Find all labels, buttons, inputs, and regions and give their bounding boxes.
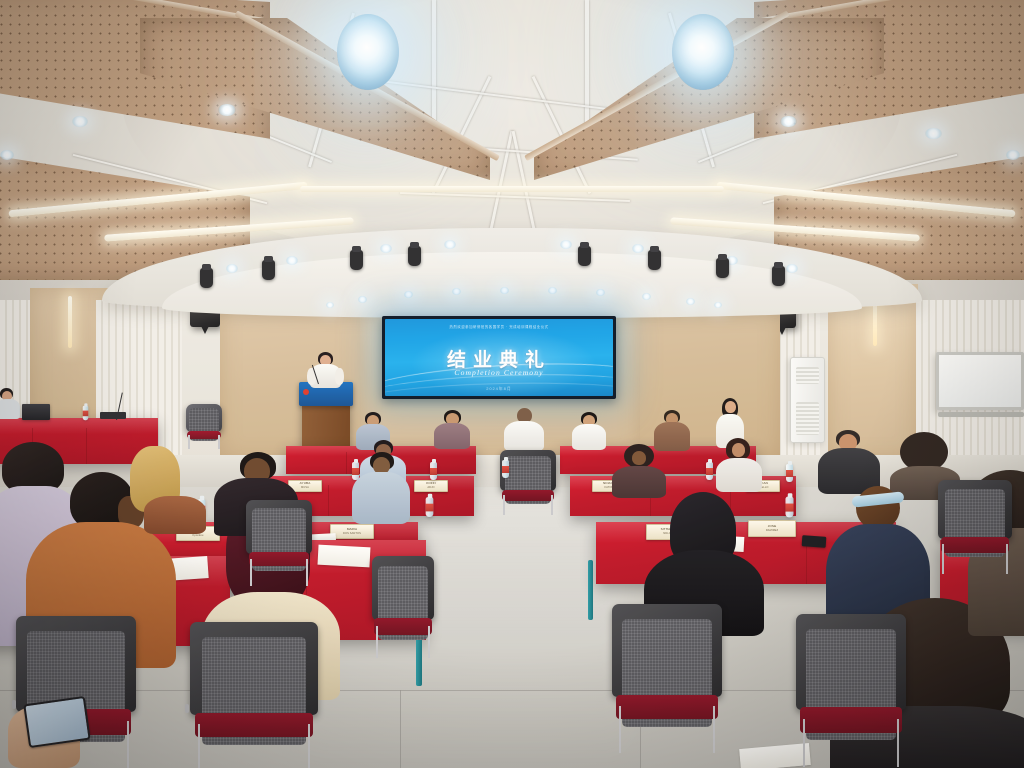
truss-downlight bbox=[226, 264, 238, 273]
attendee-head bbox=[725, 401, 736, 413]
recessed-downlight bbox=[218, 104, 236, 116]
podium-speaker bbox=[305, 352, 345, 390]
attendee-torso bbox=[434, 423, 470, 449]
truss-downlight bbox=[286, 256, 298, 265]
soffit-downlight bbox=[326, 302, 334, 308]
ac-vent-grill bbox=[796, 367, 820, 384]
stage-spotlight bbox=[716, 258, 729, 278]
stage-spotlight bbox=[648, 250, 661, 270]
recessed-downlight bbox=[1006, 150, 1020, 160]
placard-name-line2: RAMIREZ bbox=[766, 529, 778, 532]
chair-row-3-right[interactable] bbox=[796, 614, 906, 764]
soffit-downlight bbox=[404, 291, 413, 298]
smartphone-foreground[interactable] bbox=[23, 696, 91, 748]
floor-tile-seam bbox=[400, 690, 401, 768]
water-bottle bbox=[426, 497, 434, 517]
chair-armrest bbox=[12, 700, 16, 709]
dome-pendant-light bbox=[337, 14, 399, 90]
recessed-downlight bbox=[780, 116, 797, 127]
stage-spotlight bbox=[350, 250, 363, 270]
whiteboard-tray bbox=[938, 412, 1024, 417]
table-equipment bbox=[100, 412, 126, 419]
empty-chair[interactable] bbox=[186, 404, 222, 448]
attendee-head bbox=[632, 451, 646, 465]
soffit-downlight bbox=[686, 298, 695, 305]
led-display-screen: 热烈欢迎参加研修班的各国学员 · 完成培训课程结业仪式 结业典礼 Complet… bbox=[382, 316, 616, 399]
screen-date-text: 2024年8月 bbox=[385, 386, 613, 392]
ac-vent-grill bbox=[796, 402, 820, 436]
stage-spotlight bbox=[262, 260, 275, 280]
speaker-arm bbox=[335, 368, 344, 385]
attendee-torso bbox=[572, 424, 606, 450]
screen-banner-text: 热烈欢迎参加研修班的各国学员 · 完成培训课程结业仪式 bbox=[385, 324, 613, 329]
placard-name-line2: DOS SANTOS bbox=[343, 532, 361, 535]
technician-torso bbox=[0, 399, 20, 419]
soffit-downlight bbox=[500, 287, 509, 294]
speaker-podium bbox=[302, 382, 350, 456]
truss-downlight bbox=[786, 264, 798, 273]
name-placard: KOFFI ADJO bbox=[414, 480, 448, 492]
water-bottle bbox=[786, 464, 793, 482]
truss-downlight bbox=[380, 244, 392, 253]
laptop bbox=[22, 404, 50, 420]
recessed-downlight bbox=[0, 150, 14, 160]
conference-hall-photo: 热烈欢迎参加研修班的各国学员 · 完成培训课程结业仪式 结业典礼 Complet… bbox=[0, 0, 1024, 768]
chair-foreground-mid[interactable] bbox=[190, 622, 318, 768]
attendee bbox=[818, 430, 880, 492]
stage-spotlight bbox=[200, 268, 213, 288]
smartphone[interactable] bbox=[802, 535, 827, 548]
ceiling-light-strip bbox=[300, 186, 724, 192]
soffit-downlight bbox=[452, 288, 461, 295]
truss-downlight bbox=[560, 240, 572, 249]
attendee bbox=[434, 410, 470, 448]
attendee-torso bbox=[504, 421, 544, 451]
attendee bbox=[612, 444, 666, 496]
chair-row-2-right[interactable] bbox=[938, 480, 1012, 572]
stage-spotlight bbox=[578, 246, 591, 266]
chair-row-3-left[interactable] bbox=[372, 556, 434, 656]
placard-name-line2: ADJO bbox=[427, 486, 434, 489]
attendee-torso bbox=[352, 472, 410, 524]
whiteboard bbox=[936, 352, 1024, 410]
truss-downlight bbox=[444, 240, 456, 249]
water-bottle bbox=[83, 406, 89, 420]
soffit-downlight bbox=[358, 296, 367, 303]
foreground-attendee-blonde bbox=[120, 446, 206, 530]
chair-armrest bbox=[185, 704, 189, 713]
table-leg bbox=[588, 560, 593, 620]
screen-surface: 热烈欢迎参加研修班的各国学员 · 完成培训课程结业仪式 结业典礼 Complet… bbox=[385, 319, 613, 396]
stage-spotlight bbox=[408, 246, 421, 266]
attendee bbox=[572, 412, 606, 449]
attendee-torso bbox=[716, 458, 762, 492]
chair-row-3-center[interactable] bbox=[612, 604, 722, 750]
attendee bbox=[352, 452, 410, 522]
water-bottle bbox=[502, 460, 509, 478]
truss-downlight bbox=[632, 244, 644, 253]
soffit-downlight bbox=[596, 289, 605, 296]
attendee bbox=[504, 408, 544, 450]
recessed-downlight bbox=[925, 128, 942, 139]
water-bottle bbox=[430, 462, 437, 480]
water-bottle bbox=[785, 497, 793, 518]
stage-spotlight bbox=[772, 266, 785, 286]
name-placard: MARIA DOS SANTOS bbox=[330, 524, 374, 539]
soffit-downlight bbox=[714, 302, 722, 308]
dome-pendant-light bbox=[672, 14, 734, 90]
soffit-downlight bbox=[548, 287, 557, 294]
chair-row-2-left[interactable] bbox=[246, 500, 312, 584]
attendee-head bbox=[732, 443, 745, 457]
attendee bbox=[716, 438, 762, 490]
placard-name-line2: MUSA bbox=[301, 486, 309, 489]
soffit-downlight bbox=[642, 293, 651, 300]
technician bbox=[0, 388, 22, 420]
recessed-downlight bbox=[72, 116, 88, 127]
wall-light-strip bbox=[68, 296, 72, 348]
screen-title-english: Completion Ceremony bbox=[385, 368, 613, 377]
water-bottle bbox=[706, 462, 713, 480]
